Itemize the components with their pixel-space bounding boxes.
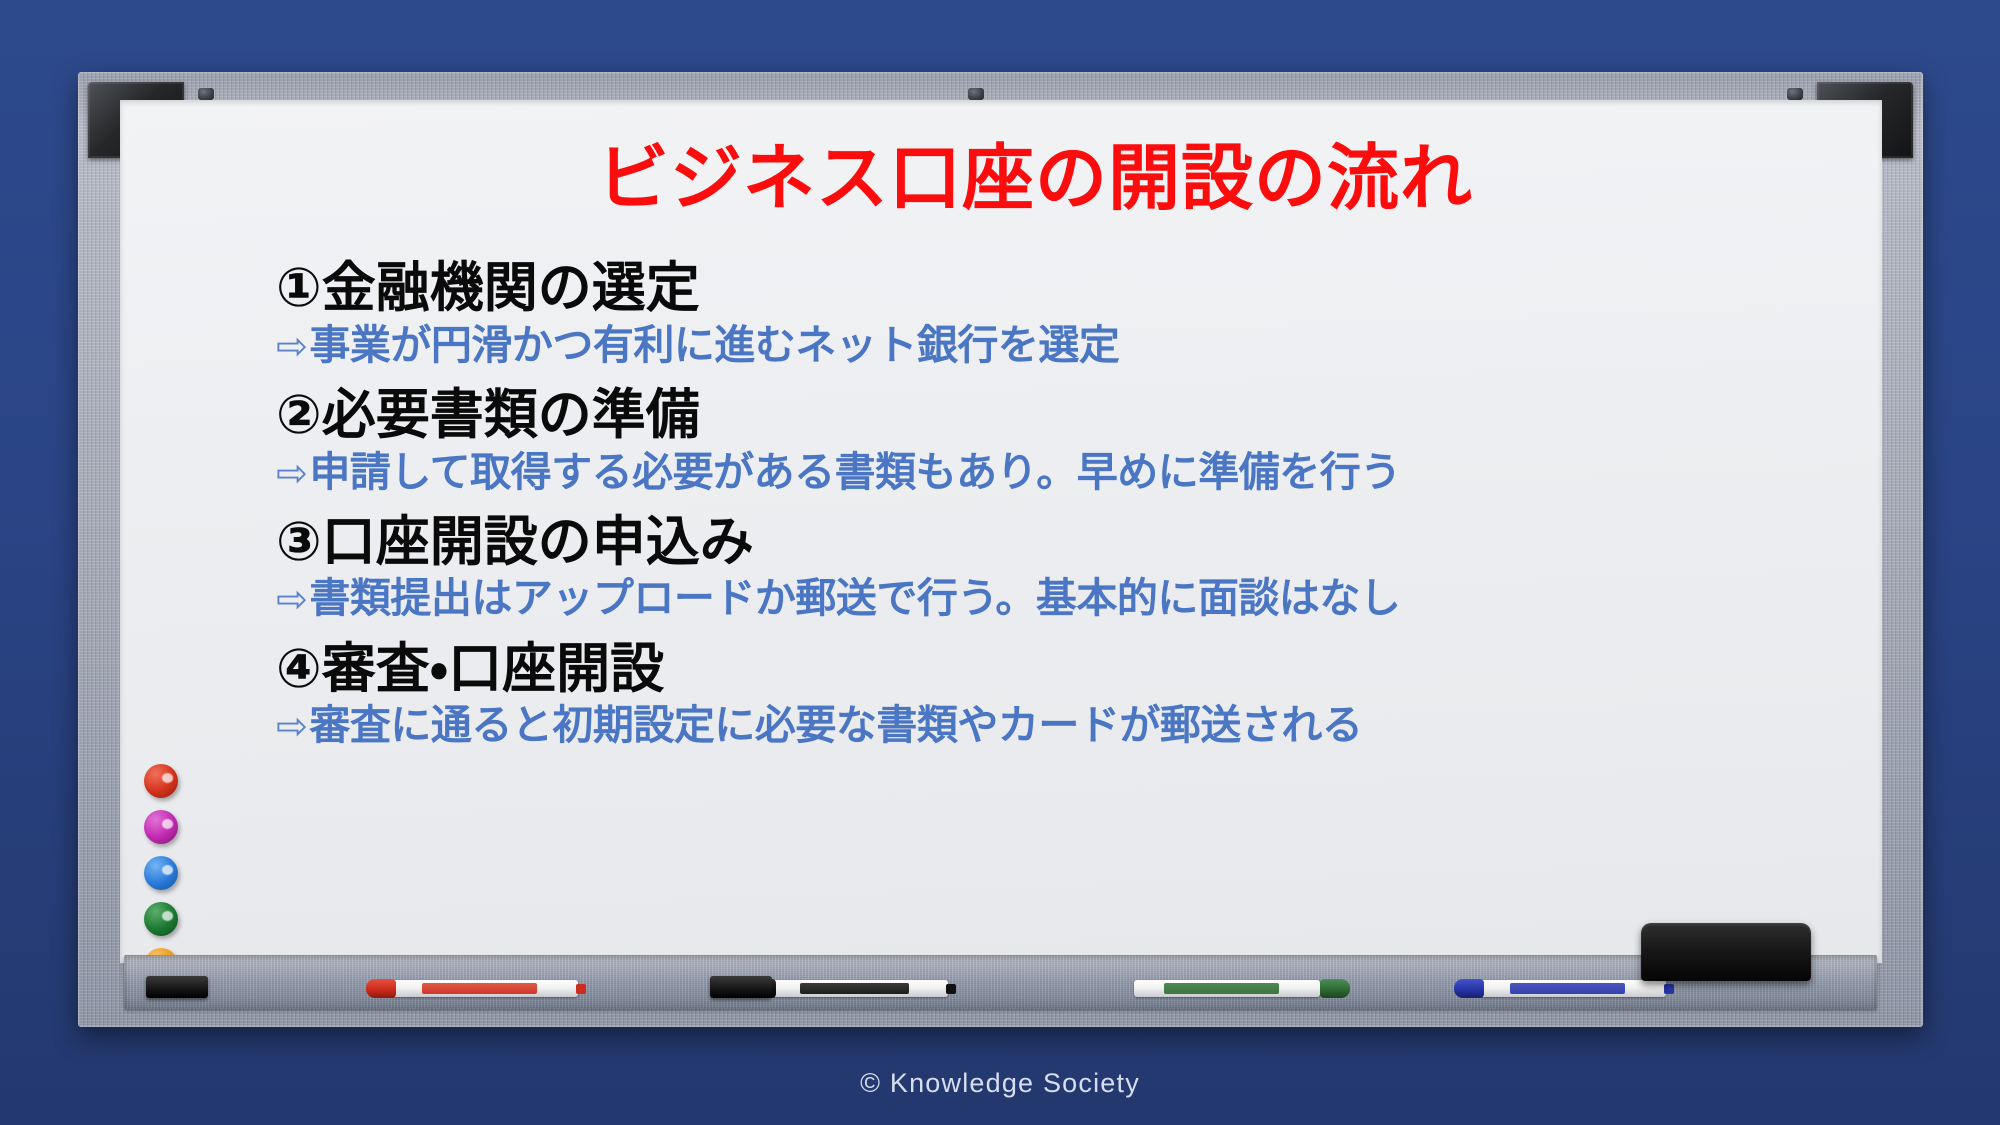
marker-band-green <box>1164 983 1279 994</box>
step-heading-1: ①金融機関の選定 <box>276 258 1842 318</box>
step-item-1: ①金融機関の選定 ⇨事業が円滑かつ有利に進むネット銀行を選定 <box>276 258 1842 369</box>
tray-eraser-center[interactable] <box>710 976 772 998</box>
step-detail-4: ⇨審査に通ると初期設定に必要な書類やカードが郵送される <box>276 701 1842 749</box>
marker-cap-green <box>1320 979 1350 998</box>
step-detail-text-4: 審査に通ると初期設定に必要な書類やカードが郵送される <box>309 701 1362 749</box>
marker-cap-blue <box>1454 979 1484 998</box>
step-detail-text-2: 申請して取得する必要がある書類もあり。早めに準備を行う <box>309 448 1400 496</box>
step-detail-1: ⇨事業が円滑かつ有利に進むネット銀行を選定 <box>276 321 1842 369</box>
slide-content: ビジネス口座の開設の流れ ①金融機関の選定 ⇨事業が円滑かつ有利に進むネット銀行… <box>228 140 1842 766</box>
step-item-4: ④審査・口座開設 ⇨審査に通ると初期設定に必要な書類やカードが郵送される <box>276 639 1842 750</box>
step-detail-text-3: 書類提出はアップロードか郵送で行う。基本的に面談はなし <box>309 574 1400 622</box>
marker-band-red <box>422 983 537 994</box>
marker-black[interactable] <box>772 980 948 997</box>
step-detail-2: ⇨申請して取得する必要がある書類もあり。早めに準備を行う <box>276 448 1842 496</box>
page-title: ビジネス口座の開設の流れ <box>228 140 1842 216</box>
magnet-magenta[interactable] <box>144 810 178 844</box>
step-heading-2: ②必要書類の準備 <box>276 385 1842 445</box>
slide-canvas: ビジネス口座の開設の流れ ①金融機関の選定 ⇨事業が円滑かつ有利に進むネット銀行… <box>0 0 2000 1125</box>
tray-eraser-left[interactable] <box>146 976 208 998</box>
pen-tray <box>124 955 1877 1009</box>
marker-tip-blue <box>1664 984 1674 994</box>
step-item-3: ③口座開設の申込み ⇨書類提出はアップロードか郵送で行う。基本的に面談はなし <box>276 512 1842 623</box>
arrow-right-icon: ⇨ <box>276 451 307 495</box>
magnet-green[interactable] <box>144 902 178 936</box>
step-detail-text-1: 事業が円滑かつ有利に進むネット銀行を選定 <box>309 321 1119 369</box>
whiteboard-surface: ビジネス口座の開設の流れ ①金融機関の選定 ⇨事業が円滑かつ有利に進むネット銀行… <box>120 100 1882 962</box>
marker-red[interactable] <box>392 980 578 997</box>
marker-tip-black <box>946 984 956 994</box>
whiteboard-frame: ビジネス口座の開設の流れ ①金融機関の選定 ⇨事業が円滑かつ有利に進むネット銀行… <box>78 72 1923 1027</box>
step-heading-4: ④審査・口座開設 <box>276 639 1842 699</box>
marker-cap-red <box>366 979 396 998</box>
frame-screw-center <box>968 88 984 100</box>
step-heading-3: ③口座開設の申込み <box>276 512 1842 572</box>
arrow-right-icon: ⇨ <box>276 704 307 748</box>
arrow-right-icon: ⇨ <box>276 324 307 368</box>
marker-band-blue <box>1510 983 1625 994</box>
steps-list: ①金融機関の選定 ⇨事業が円滑かつ有利に進むネット銀行を選定 ②必要書類の準備 … <box>276 258 1842 749</box>
marker-band-black <box>800 983 909 994</box>
magnet-red[interactable] <box>144 764 178 798</box>
magnet-blue[interactable] <box>144 856 178 890</box>
frame-screw-right <box>1787 88 1803 100</box>
marker-blue[interactable] <box>1480 980 1666 997</box>
arrow-right-icon: ⇨ <box>276 577 307 621</box>
step-detail-3: ⇨書類提出はアップロードか郵送で行う。基本的に面談はなし <box>276 574 1842 622</box>
footer-credit: © Knowledge Society <box>0 1068 2000 1099</box>
step-item-2: ②必要書類の準備 ⇨申請して取得する必要がある書類もあり。早めに準備を行う <box>276 385 1842 496</box>
marker-tip-red <box>576 984 586 994</box>
marker-green[interactable] <box>1134 980 1320 997</box>
board-eraser[interactable] <box>1641 923 1811 981</box>
frame-screw-left <box>198 88 214 100</box>
